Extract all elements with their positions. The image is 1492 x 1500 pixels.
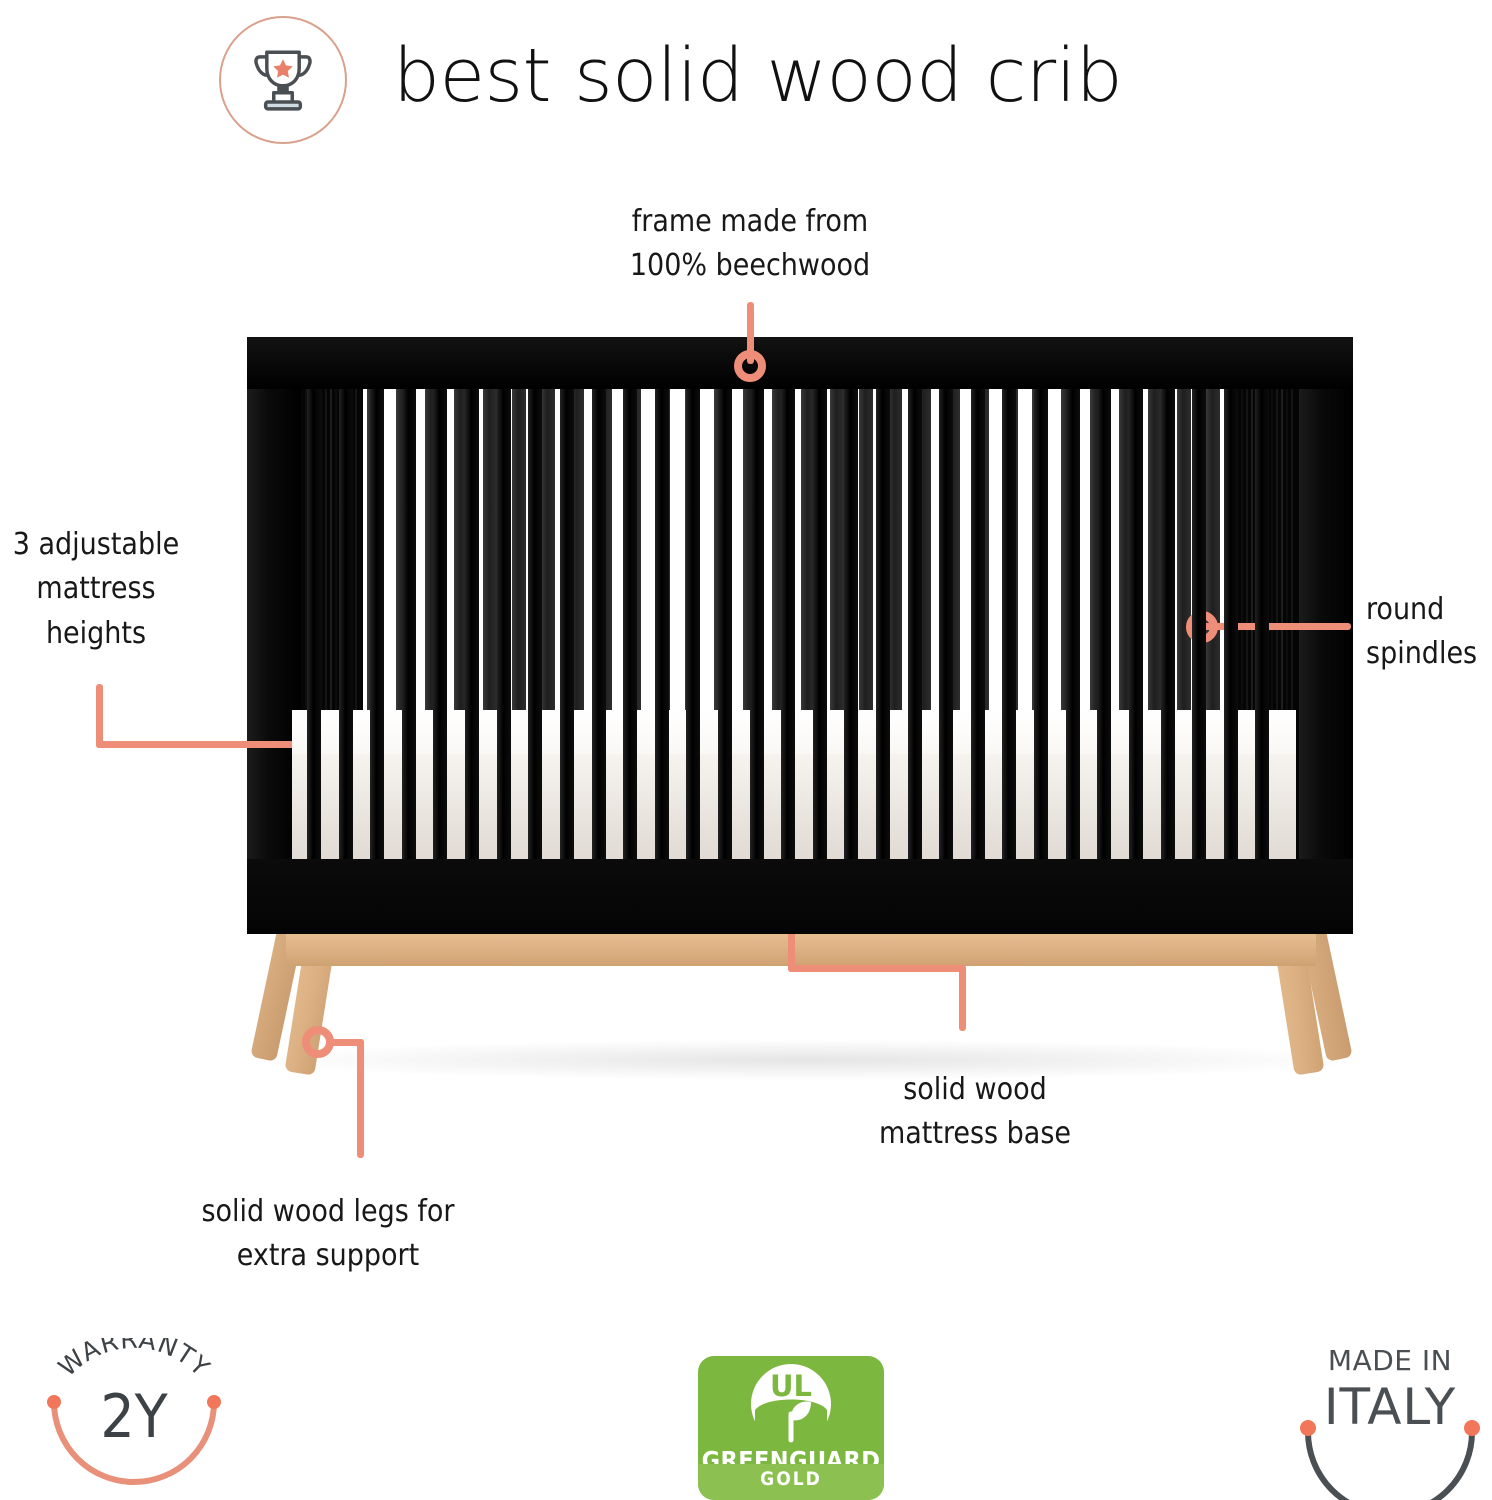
crib-spindle	[686, 389, 700, 934]
greenguard-tier-bar: GOLD	[698, 1464, 884, 1500]
crib-spindle	[859, 389, 873, 859]
crib-spindle	[1097, 389, 1111, 934]
crib-spindle	[685, 389, 699, 859]
crib-spindle	[830, 389, 844, 859]
callout-label-frame-beechwood: frame made from 100% beechwood	[585, 200, 915, 289]
header: best solid wood crib	[0, 0, 1492, 160]
ul-mark: UL	[770, 1369, 812, 1403]
crib-spindle	[1119, 389, 1133, 859]
crib-spindle	[917, 389, 931, 859]
crib-spindle	[1255, 389, 1269, 934]
crib-spindle	[801, 389, 815, 859]
made-in-line1: MADE IN	[1328, 1344, 1452, 1377]
crib-spindle	[714, 389, 728, 859]
crib-spindle-highlight	[335, 389, 337, 859]
callout-leader-mattress-heights-h	[96, 741, 330, 748]
crib-spindle	[560, 389, 574, 934]
crib-spindle	[1002, 389, 1016, 934]
callout-marker-frame-beechwood	[734, 350, 766, 382]
mattress-top-surface	[292, 710, 1296, 754]
crib-spindle	[592, 389, 606, 934]
crib-spindle	[888, 389, 902, 859]
crib-spindle	[339, 389, 353, 934]
callout-leader-mattress-base-v1	[788, 862, 795, 972]
warranty-value: 2Y	[24, 1382, 244, 1452]
crib-spindle	[370, 389, 384, 934]
crib-spindle	[570, 389, 584, 859]
crib-spindle	[971, 389, 985, 934]
callout-label-solid-wood-mattress-base: solid wood mattress base	[840, 1068, 1110, 1157]
crib-spindle	[367, 389, 381, 859]
crib-post-left	[247, 337, 301, 931]
award-badge-circle	[219, 16, 347, 144]
crib-spindle	[433, 389, 447, 934]
crib-spindle	[876, 389, 890, 934]
crib-spindle	[939, 389, 953, 934]
callout-label-adjustable-mattress-heights: 3 adjustable mattress heights	[0, 523, 196, 656]
crib-spindle	[655, 389, 669, 934]
crib-top-rail	[247, 337, 1353, 389]
callout-leader-legs-v	[357, 1039, 364, 1158]
crib-spindle	[396, 389, 410, 859]
crib-spindle	[1032, 389, 1046, 859]
crib-spindle	[1061, 389, 1075, 859]
trophy-icon	[246, 43, 320, 117]
crib-spindle	[627, 389, 641, 859]
crib-spindle	[623, 389, 637, 934]
crib-leg-front-right	[1272, 928, 1324, 1076]
crib-spindle	[512, 389, 526, 859]
crib-spindle	[1090, 389, 1104, 859]
crib-spindle	[1004, 389, 1018, 859]
crib-spindle	[1161, 389, 1175, 934]
crib-spindle	[483, 389, 497, 859]
crib-spindle	[465, 389, 479, 934]
callout-leader-mattress-base-h	[788, 965, 966, 972]
crib-spindle	[1148, 389, 1162, 859]
warranty-badge: WARRANTY 2Y	[24, 1338, 244, 1498]
crib-spindle	[1034, 389, 1048, 934]
crib-spindle	[598, 389, 612, 859]
made-in-italy-graphic: MADE IN ITALY	[1288, 1336, 1492, 1500]
crib-spindle	[908, 389, 922, 934]
made-in-line2: ITALY	[1324, 1378, 1456, 1436]
crib-spindle	[975, 389, 989, 859]
callout-leader-mattress-base-v2	[959, 965, 966, 1031]
crib-spindle	[813, 389, 827, 934]
crib-spindle-highlight	[310, 389, 312, 859]
crib-spindle-highlight	[345, 389, 347, 859]
crib-spindle	[718, 389, 732, 934]
crib-spindle	[1224, 389, 1238, 934]
crib-spindle-highlight	[305, 389, 307, 859]
callout-leader-mattress-heights-v	[96, 684, 103, 748]
crib-spindle-highlight	[325, 389, 327, 859]
crib-spindle	[1066, 389, 1080, 934]
crib-spindle	[772, 389, 786, 859]
solid-wood-base-rail	[286, 928, 1316, 966]
crib-spindle	[541, 389, 555, 859]
floor-shadow	[250, 1040, 1360, 1080]
crib-spindle	[743, 389, 757, 859]
made-in-italy-badge: MADE IN ITALY	[1288, 1336, 1492, 1500]
crib-post-right	[1299, 337, 1353, 931]
crib-spindle	[844, 389, 858, 934]
crib-leg-back-left	[250, 929, 302, 1062]
crib-spindle-highlight	[350, 389, 352, 859]
crib-spindle-zone	[301, 389, 1299, 859]
crib-bottom-rail	[247, 859, 1353, 934]
greenguard-gold-badge: UL GREENGUARD GOLD	[698, 1356, 884, 1500]
crib-spindle	[425, 389, 439, 859]
greenguard-tier: GOLD	[698, 1468, 884, 1490]
callout-label-round-spindles: round spindles	[1366, 588, 1492, 677]
crib-spindle	[454, 389, 468, 859]
callout-leader-round-spindles	[1203, 623, 1351, 630]
crib-side-panel-left	[301, 389, 363, 859]
crib-spindle-highlight	[340, 389, 342, 859]
crib-spindle	[750, 389, 764, 934]
crib-spindle-highlight	[330, 389, 332, 859]
crib-spindle	[656, 389, 670, 859]
certification-badges: WARRANTY 2Y UL GREENGUARD GOLD MADE IN I…	[0, 1330, 1492, 1500]
callout-marker-round-spindles	[1186, 611, 1218, 643]
callout-marker-adjustable-mattress-heights	[314, 729, 346, 761]
crib-spindle-highlight	[315, 389, 317, 859]
crib-spindle	[946, 389, 960, 859]
crib-leg-back-right	[1300, 929, 1352, 1062]
svg-text:WARRANTY: WARRANTY	[53, 1338, 216, 1382]
crib-spindle-highlight	[355, 389, 357, 859]
ul-leaf-icon: UL	[749, 1362, 833, 1446]
callout-label-solid-wood-legs: solid wood legs for extra support	[168, 1190, 488, 1279]
crib-spindle	[1129, 389, 1143, 934]
crib-spindle	[497, 389, 511, 934]
page-title: best solid wood crib	[393, 17, 1122, 135]
crib-spindle-highlight	[320, 389, 322, 859]
crib-spindle	[307, 389, 321, 934]
warranty-arc-label: WARRANTY	[53, 1338, 216, 1382]
crib-spindle	[402, 389, 416, 934]
crib-spindle	[528, 389, 542, 934]
crib-spindle	[1192, 389, 1206, 934]
